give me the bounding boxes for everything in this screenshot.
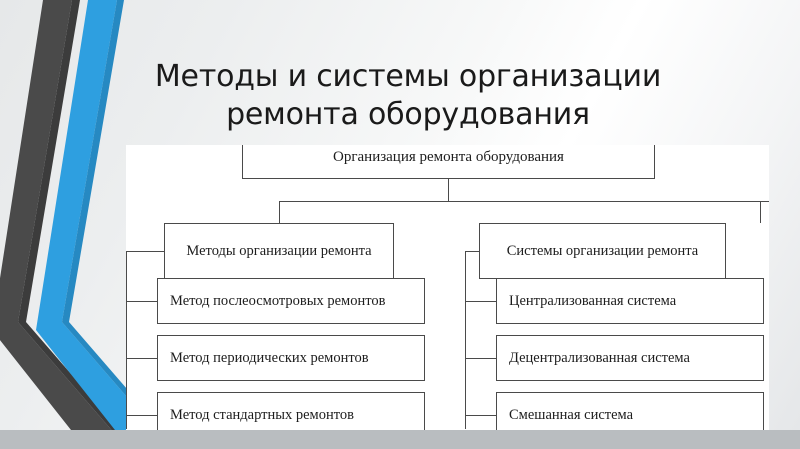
connector-right-leaf-1 [465,358,496,359]
diagram-leaf-0-2[interactable]: Метод стандартных ремонтов [157,392,425,430]
diagram-leaf-0-1-label: Метод периодических ремонтов [170,349,369,367]
connector-spine-right [465,251,466,429]
connector-right-leaf-0 [465,301,496,302]
connector-root-stem [448,179,449,201]
connector-spine-left-to-branch [126,251,164,252]
diagram-leaf-1-0[interactable]: Централизованная система [496,278,764,324]
diagram-leaf-0-2-label: Метод стандартных ремонтов [170,406,354,424]
diagram-node-branch-1[interactable]: Системы организации ремонта [479,223,726,279]
page-title: Методы и системы организации ремонта обо… [108,58,708,134]
diagram-node-branch-0[interactable]: Методы организации ремонта [164,223,394,279]
connector-left-leaf-1 [126,358,157,359]
diagram-leaf-1-2[interactable]: Смешанная система [496,392,764,430]
diagram-node-root[interactable]: Организация ремонта оборудования [242,145,655,179]
connector-bus-drop-left [279,201,280,223]
diagram-leaf-1-1-label: Децентрализованная система [509,349,690,367]
diagram-leaf-1-2-label: Смешанная система [509,406,633,424]
diagram-leaf-1-1[interactable]: Децентрализованная система [496,335,764,381]
diagram-node-branch-0-label: Методы организации ремонта [186,242,371,260]
diagram-leaf-0-1[interactable]: Метод периодических ремонтов [157,335,425,381]
diagram-leaf-1-0-label: Централизованная система [509,292,676,310]
slide: Методы и системы организации ремонта обо… [0,0,800,449]
bottom-band [0,430,800,449]
diagram-panel: Организация ремонта оборудования Методы … [126,145,769,430]
diagram-node-root-label: Организация ремонта оборудования [333,148,564,167]
diagram-canvas: Организация ремонта оборудования Методы … [126,145,769,430]
connector-bus-left-right [279,201,761,202]
connector-left-leaf-0 [126,301,157,302]
connector-spine-left [126,251,127,429]
diagram-node-branch-1-label: Системы организации ремонта [507,242,698,260]
diagram-leaf-0-0[interactable]: Метод послеосмотровых ремонтов [157,278,425,324]
connector-bus-drop-right [760,201,761,223]
connector-right-leaf-2 [465,415,496,416]
diagram-leaf-0-0-label: Метод послеосмотровых ремонтов [170,292,385,310]
connector-spine-right-to-branch [465,251,479,252]
connector-left-leaf-2 [126,415,157,416]
